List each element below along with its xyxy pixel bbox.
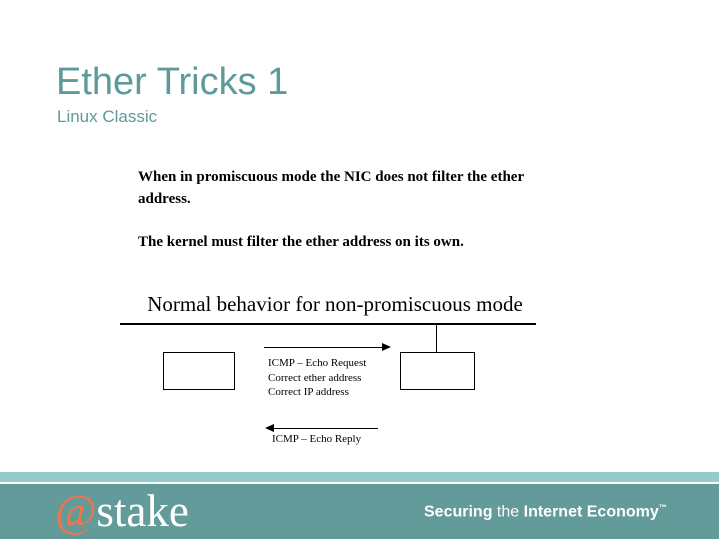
host-box-right (400, 352, 475, 390)
network-bus-drop-line (436, 324, 437, 352)
tagline-word-3: Internet Economy (524, 503, 659, 520)
echo-request-label-line-3: Correct IP address (268, 385, 366, 400)
diagram-heading: Normal behavior for non-promiscuous mode (110, 292, 560, 317)
footer-tagline: Securing the Internet Economy™ (424, 498, 667, 522)
echo-request-label: ICMP – Echo Request Correct ether addres… (268, 356, 366, 400)
host-box-left (163, 352, 235, 390)
trademark-icon: ™ (659, 503, 667, 512)
echo-request-label-line-1: ICMP – Echo Request (268, 356, 366, 371)
atstake-logo-word: stake (96, 486, 188, 536)
tagline-word-2: the (497, 503, 519, 520)
footer-accent-bar (0, 472, 719, 482)
tagline-word-1: Securing (424, 503, 492, 520)
at-symbol-icon: @ (55, 486, 96, 536)
echo-request-arrow-shaft (264, 347, 388, 348)
network-bus-line (120, 323, 536, 325)
echo-reply-arrow-shaft (272, 428, 378, 429)
echo-request-arrow-head-icon (382, 343, 391, 351)
echo-reply-arrow-head-icon (265, 424, 274, 432)
network-diagram: Normal behavior for non-promiscuous mode… (0, 0, 719, 470)
echo-request-label-line-2: Correct ether address (268, 371, 366, 386)
atstake-logo: @stake (55, 485, 189, 537)
echo-reply-label: ICMP – Echo Reply (272, 432, 361, 447)
echo-reply-label-line-1: ICMP – Echo Reply (272, 432, 361, 447)
